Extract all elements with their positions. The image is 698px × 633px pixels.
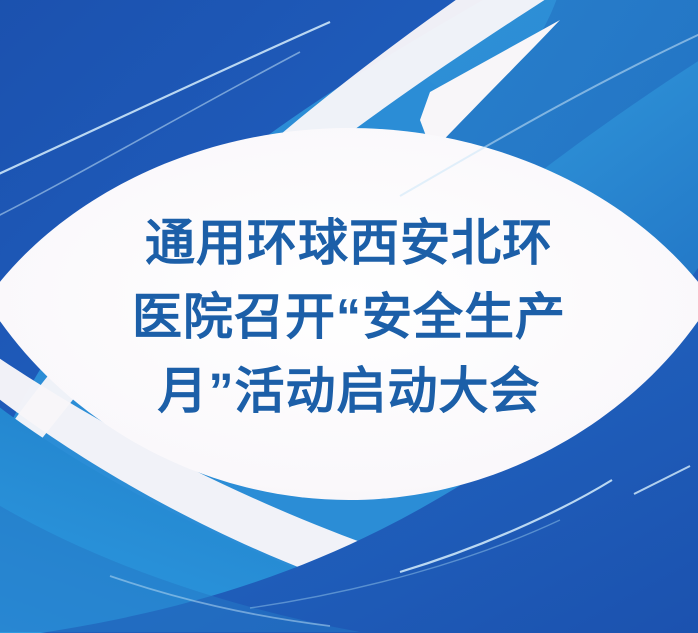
poster-banner: 通用环球西安北环 医院召开“安全生产 月”活动启动大会 [0, 0, 698, 633]
background-artwork [0, 0, 698, 633]
